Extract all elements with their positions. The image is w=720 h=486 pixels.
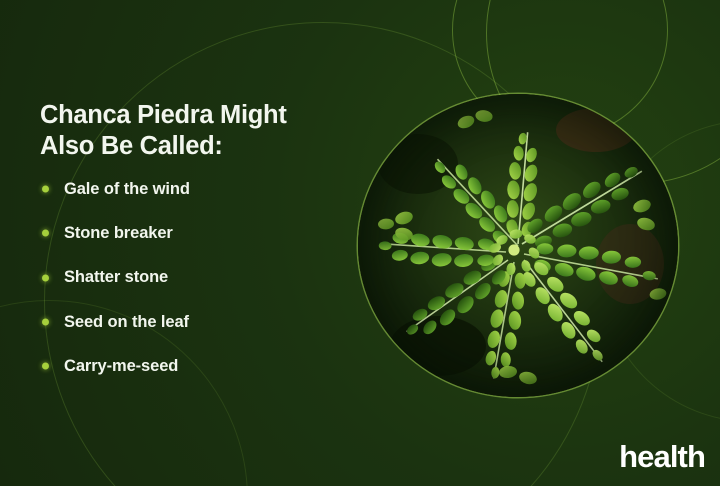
page-title: Chanca Piedra Might Also Be Called: [40, 100, 370, 161]
list-item: Gale of the wind [40, 167, 350, 211]
chanca-piedra-plant-image [358, 94, 678, 397]
list-item: Seed on the leaf [40, 300, 350, 344]
bullet-dot-icon [42, 363, 49, 370]
alias-label: Shatter stone [64, 268, 168, 287]
list-item: Carry-me-seed [40, 344, 350, 388]
alias-label: Stone breaker [64, 224, 173, 243]
bullet-dot-icon [42, 186, 49, 193]
bullet-dot-icon [42, 319, 49, 326]
alias-label: Gale of the wind [64, 180, 190, 199]
list-item: Stone breaker [40, 211, 350, 255]
brand-logo: health [619, 441, 705, 472]
bullet-dot-icon [42, 230, 49, 237]
list-item: Shatter stone [40, 256, 350, 300]
alias-list: Gale of the wind Stone breaker Shatter s… [40, 167, 350, 388]
alias-label: Seed on the leaf [64, 313, 189, 332]
plant-photo-circle [358, 94, 678, 397]
bullet-dot-icon [42, 274, 49, 281]
alias-label: Carry-me-seed [64, 357, 178, 376]
infographic-slide: Chanca Piedra Might Also Be Called: Gale… [0, 0, 720, 486]
